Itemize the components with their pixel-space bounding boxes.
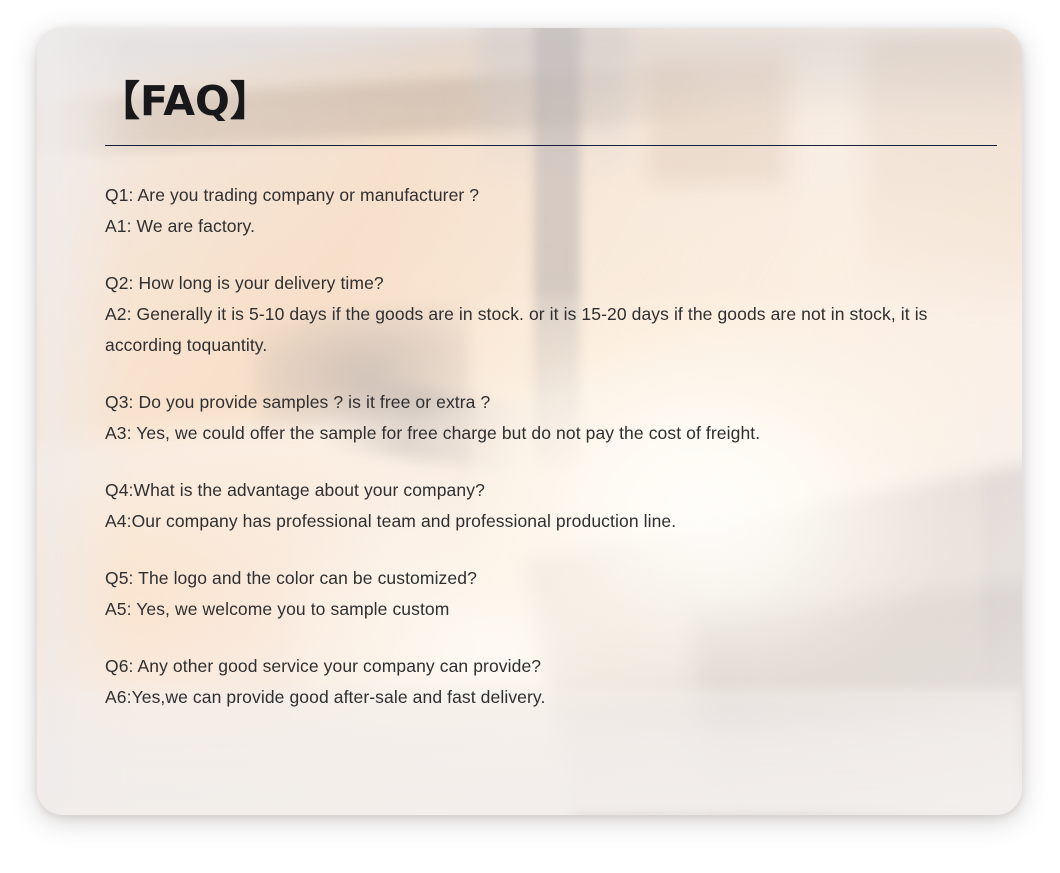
faq-question: Q6: Any other good service your company … [105,651,958,682]
faq-answer: A1: We are factory. [105,211,958,242]
faq-item: Q1: Are you trading company or manufactu… [105,180,958,242]
faq-item: Q3: Do you provide samples ? is it free … [105,387,958,449]
page-title: 【FAQ】 [99,80,958,123]
faq-item: Q6: Any other good service your company … [105,651,958,713]
faq-question: Q3: Do you provide samples ? is it free … [105,387,958,418]
faq-list: Q1: Are you trading company or manufactu… [105,180,958,713]
faq-answer: A6:Yes,we can provide good after-sale an… [105,682,958,713]
faq-question: Q5: The logo and the color can be custom… [105,563,958,594]
faq-answer: A4:Our company has professional team and… [105,506,958,537]
faq-item: Q5: The logo and the color can be custom… [105,563,958,625]
title-divider [105,145,997,146]
faq-question: Q4:What is the advantage about your comp… [105,475,958,506]
faq-item: Q2: How long is your delivery time? A2: … [105,268,958,361]
faq-card: 【FAQ】 Q1: Are you trading company or man… [37,28,1022,815]
card-content: 【FAQ】 Q1: Are you trading company or man… [37,28,1022,815]
faq-question: Q2: How long is your delivery time? [105,268,958,299]
faq-question: Q1: Are you trading company or manufactu… [105,180,958,211]
faq-answer: A5: Yes, we welcome you to sample custom [105,594,958,625]
page-root: 【FAQ】 Q1: Are you trading company or man… [0,0,1060,873]
faq-answer: A3: Yes, we could offer the sample for f… [105,418,958,449]
faq-answer: A2: Generally it is 5-10 days if the goo… [105,299,958,361]
faq-item: Q4:What is the advantage about your comp… [105,475,958,537]
